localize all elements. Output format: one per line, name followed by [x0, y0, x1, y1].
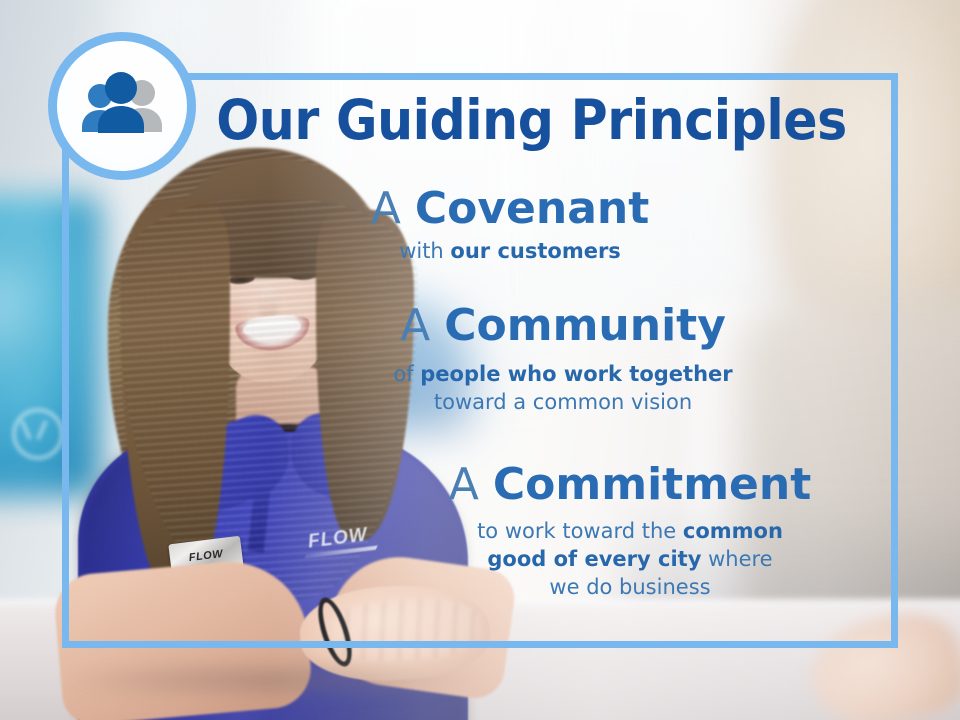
guiding-principles-graphic: FLOW FLOW Our Guiding Principles [0, 0, 960, 720]
principle-commitment-body: to work toward the commongood of every c… [300, 518, 960, 601]
principle-commitment-title: A Commitment [300, 462, 960, 508]
principle-community-title: A Community [166, 303, 960, 349]
principle-commitment-keyword: Commitment [493, 459, 811, 510]
principle-community-keyword: Community [444, 300, 726, 351]
principle-community-body: of people who work togethertoward a comm… [166, 361, 960, 416]
window-light-right [560, 0, 760, 320]
arm-shadow [60, 660, 480, 700]
page-title: Our Guiding Principles [38, 92, 921, 148]
principle-commitment-article: A [449, 459, 479, 510]
principle-covenant-keyword: Covenant [415, 183, 649, 234]
principle-covenant-title: A Covenant [60, 186, 960, 232]
principle-covenant-article: A [371, 183, 401, 234]
principle-covenant-body: with our customers [60, 238, 960, 266]
principle-covenant: A Covenant with our customers [0, 186, 960, 266]
principle-commitment: A Commitment to work toward the commongo… [0, 462, 960, 601]
principle-community: A Community of people who work togethert… [0, 303, 960, 417]
principle-community-article: A [400, 300, 430, 351]
